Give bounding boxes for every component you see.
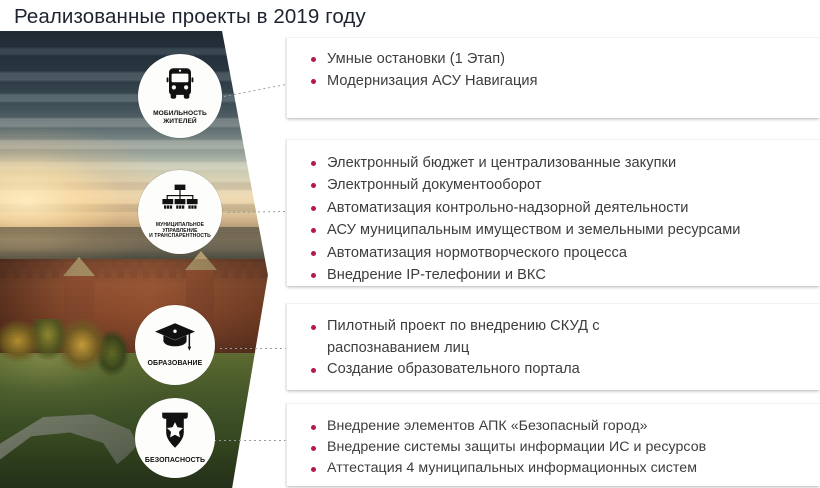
badge-mobility-label: МОБИЛЬНОСТЬЖИТЕЛЕЙ [153, 110, 207, 125]
bus-icon [162, 67, 198, 106]
list-item: Электронный документооборот [301, 174, 810, 196]
slide-root: Реализованные проекты в 2019 году [0, 0, 820, 488]
bullet-list-education: Пилотный проект по внедрению СКУД с расп… [301, 316, 810, 381]
bullet-list-mobility: Умные остановки (1 Этап) Модернизация АС… [301, 48, 810, 92]
badge-education-label: ОБРАЗОВАНИЕ [148, 360, 203, 368]
list-item: Модернизация АСУ Навигация [301, 70, 810, 92]
badge-security-label: БЕЗОПАСНОСТЬ [145, 457, 205, 465]
badge-security[interactable]: БЕЗОПАСНОСТЬ [135, 398, 215, 478]
page-title: Реализованные проекты в 2019 году [14, 2, 614, 32]
badge-government[interactable]: МУНИЦИПАЛЬНОЕУПРАВЛЕНИЕИ ТРАНСПАРЕНТНОСТ… [138, 170, 222, 254]
panel-education: Пилотный проект по внедрению СКУД с расп… [286, 304, 820, 390]
list-item: Создание образовательного портала [301, 359, 810, 381]
panel-mobility: Умные остановки (1 Этап) Модернизация АС… [286, 38, 820, 118]
list-item: АСУ муниципальным имуществом и земельным… [301, 219, 810, 241]
list-item: Умные остановки (1 Этап) [301, 48, 810, 70]
panel-security: Внедрение элементов АПК «Безопасный горо… [286, 404, 820, 486]
list-item: Электронный бюджет и централизованные за… [301, 152, 810, 174]
badge-mobility[interactable]: МОБИЛЬНОСТЬЖИТЕЛЕЙ [138, 54, 222, 138]
list-item: Автоматизация контрольно-надзорной деяте… [301, 197, 810, 219]
panel-government: Электронный бюджет и централизованные за… [286, 140, 820, 286]
badge-government-label: МУНИЦИПАЛЬНОЕУПРАВЛЕНИЕИ ТРАНСПАРЕНТНОСТ… [149, 223, 211, 240]
list-item: Внедрение IP-телефонии и ВКС [301, 264, 810, 286]
list-item: Внедрение элементов АПК «Безопасный горо… [301, 416, 810, 437]
list-item: Пилотный проект по внедрению СКУД с расп… [301, 316, 631, 359]
bullet-list-security: Внедрение элементов АПК «Безопасный горо… [301, 416, 810, 479]
list-item: Аттестация 4 муниципальных информационны… [301, 458, 810, 479]
bullet-list-government: Электронный бюджет и централизованные за… [301, 152, 810, 286]
list-item: Автоматизация нормотворческого процесса [301, 242, 810, 264]
badge-education[interactable]: ОБРАЗОВАНИЕ [135, 305, 215, 385]
org-chart-icon [160, 184, 200, 219]
list-item: Внедрение системы защиты информации ИС и… [301, 437, 810, 458]
shield-star-icon [158, 411, 192, 454]
graduation-cap-icon [154, 322, 196, 357]
